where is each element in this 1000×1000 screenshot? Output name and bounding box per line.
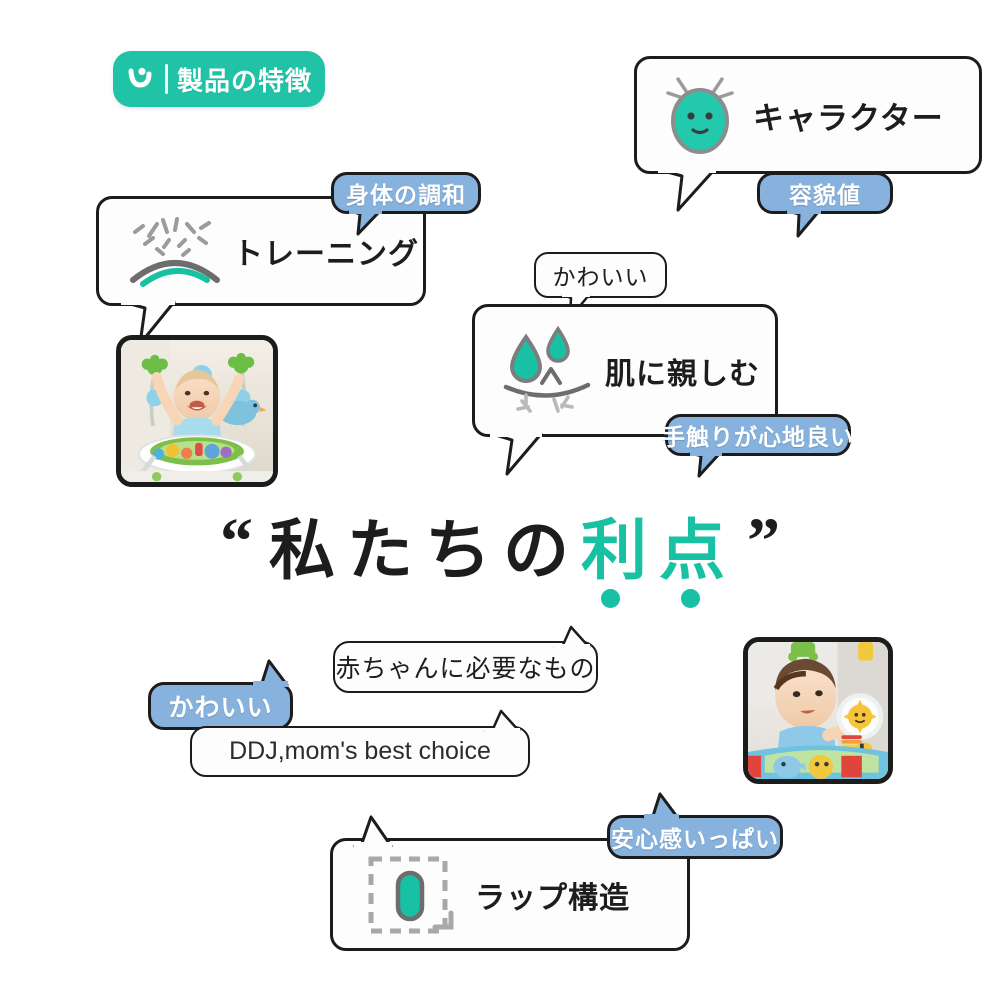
page-title-accent: 利点 [581,513,737,587]
baby-playmat-photo [743,637,893,784]
tag-body-harmony: 身体の調和 [331,172,481,214]
tag-cute-blue-label: かわいい [168,688,272,724]
bubble-baby-need: 赤ちゃんに必要なもの [333,641,598,693]
bubble-wrap-structure-label: ラップ構造 [475,873,630,917]
bubble-cute-top-label: かわいい [553,258,649,292]
water-drop-face-icon [495,319,599,423]
bubble-ddj-label: DDJ,mom's best choice [229,737,491,766]
bubble-character: キャラクター [634,56,982,174]
badge-label: 製品の特徴 [177,61,312,98]
tag-pleasant-touch-label: 手触りが心地良い [662,418,854,452]
tag-appearance-value: 容貌値 [757,172,893,214]
teal-creature-icon [659,69,743,161]
tag-body-harmony-label: 身体の調和 [346,176,466,210]
badge-divider [165,64,168,94]
baby-jumper-photo [116,335,278,487]
bubble-training-label: トレーニング [233,229,419,273]
bubble-character-label: キャラクター [753,93,944,138]
tag-reassurance-label: 安心感いっぱい [611,820,779,854]
bubble-ddj: DDJ,mom's best choice [190,726,530,777]
page-title: “ 私たちの 利点 ” [0,490,1000,610]
tag-pleasant-touch: 手触りが心地良い [665,414,851,456]
bubble-character-tail [656,168,718,214]
dashed-frame-pill-icon [361,851,465,939]
tag-appearance-value-label: 容貌値 [789,176,861,210]
tag-reassurance: 安心感いっぱい [607,815,783,859]
bubble-skin-label: 肌に親しむ [605,349,760,393]
bubble-skin-tail [487,432,545,478]
promo-page: 製品の特徴 キャラクター [0,0,1000,1000]
bubble-baby-need-label: 赤ちゃんに必要なもの [335,649,595,685]
bounce-dome-icon [123,210,227,292]
quote-close-icon: ” [747,509,780,575]
bubble-cute-top: かわいい [534,252,667,298]
tag-cute-blue: かわいい [148,682,293,730]
section-header-badge: 製品の特徴 [113,51,325,107]
quote-open-icon: “ [220,509,253,575]
page-title-plain: 私たちの [269,517,581,583]
smile-crescent-icon [113,62,165,96]
emphasis-dots [581,589,737,613]
